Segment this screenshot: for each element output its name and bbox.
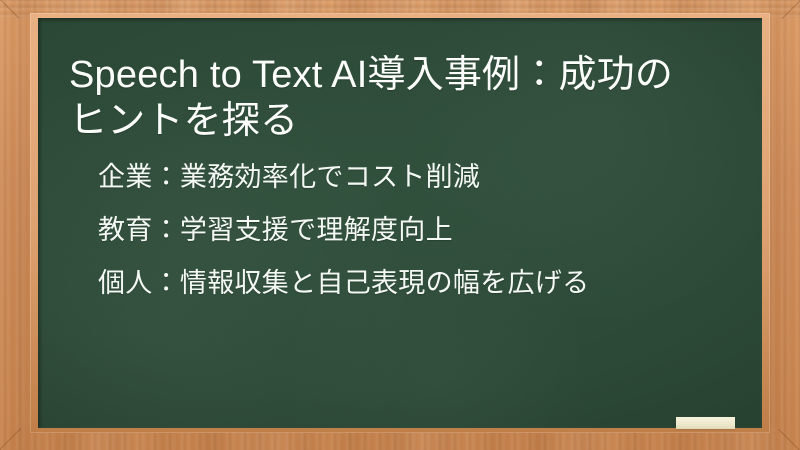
bullet-item-1: 企業：業務効率化でコスト削減 [98,151,738,204]
slide-canvas: Speech to Text AI導入事例：成功の ヒントを探る 企業：業務効率… [0,0,800,450]
slide-title: Speech to Text AI導入事例：成功の ヒントを探る [69,52,759,144]
bullet-item-2: 教育：学習支援で理解度向上 [98,204,738,257]
chalk-stick [676,417,735,429]
chalkboard-surface: Speech to Text AI導入事例：成功の ヒントを探る 企業：業務効率… [38,18,762,428]
bullet-list: 企業：業務効率化でコスト削減 教育：学習支援で理解度向上 個人：情報収集と自己表… [98,151,738,310]
bullet-item-3: 個人：情報収集と自己表現の幅を広げる [98,257,738,310]
